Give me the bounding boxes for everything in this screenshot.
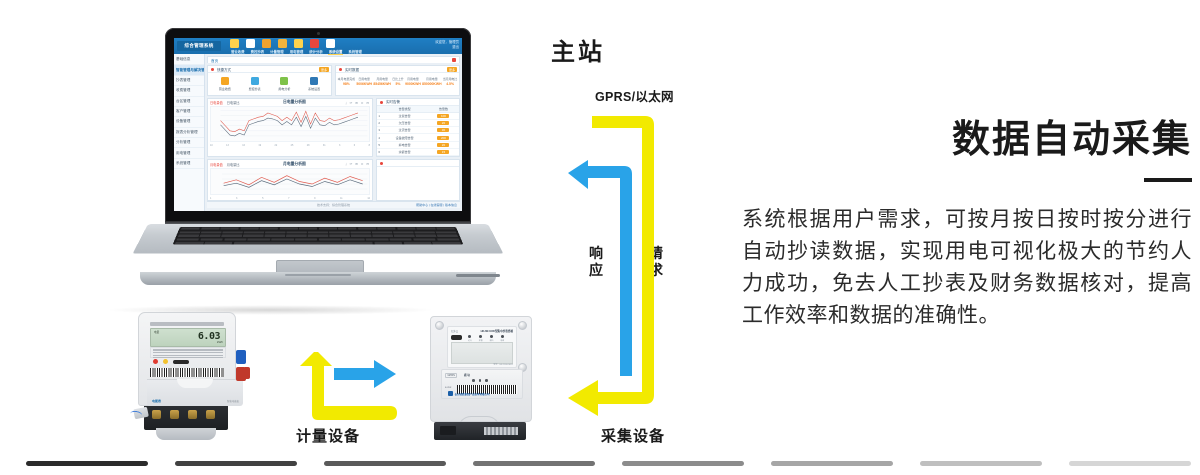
row0-type: 过载告警	[381, 112, 428, 119]
row1-count-cell: 20	[428, 120, 459, 127]
daily-chart-xaxis: 10 13 16 19 22 25 28 31 3 6	[208, 144, 372, 147]
sidebar-item-5[interactable]: 客户管理	[174, 107, 204, 117]
row5-count: 15	[437, 150, 449, 154]
table-row[interactable]: 3过流告警30	[377, 127, 459, 134]
daily-chart-card: 日电量值 日电量比 日电量分析图 ⤓ ⟳ ⊞ ⊙ ⊟	[207, 98, 373, 158]
row0-count: 100	[437, 114, 449, 118]
row3-count-cell: 200	[428, 134, 459, 141]
page-title: 数据自动采集	[742, 120, 1192, 162]
stat-label-2: 月用电量	[376, 77, 388, 81]
footer-bar-6	[920, 461, 1042, 466]
meter1-spec-label	[150, 347, 226, 358]
monthly-chart-svg	[211, 169, 369, 194]
laptop-lid: 综合管理系统 营业收费 费控抄表 计量管理 用电管理	[165, 28, 471, 223]
stat-value-3: 5%	[392, 82, 404, 88]
meter1-brand-sub: 智能电能表	[227, 399, 239, 403]
laptop-illustration: 综合管理系统 营业收费 费控抄表 计量管理 用电管理	[118, 28, 518, 308]
quick-icon-3	[310, 77, 318, 85]
bullet-icon	[211, 68, 214, 71]
dashboard-chart-row-1: 日电量值 日电量比 日电量分析图 ⤓ ⟳ ⊞ ⊙ ⊟	[207, 98, 460, 158]
footer-bar-1	[175, 461, 297, 466]
collector-barcode-label: K-2XX	[445, 387, 451, 389]
quick-label-0: 营业收费	[219, 87, 231, 91]
secondary-panel-header	[377, 160, 459, 167]
collector-lcd-display	[451, 342, 513, 364]
sidebar-item-9[interactable]: 用电管理	[174, 148, 204, 158]
terminal-screw	[188, 410, 197, 419]
dashboard-top-cards: 快捷方式 更多 营业收费 费控抄表 用电分析 系统设置	[207, 65, 460, 96]
collector-housing: 红外口 HKJW-1000型集中抄表终端 运行 报警 通讯 电源 型号：HK-1…	[430, 316, 532, 422]
bullet-icon	[380, 162, 383, 165]
mxtick-0: 1	[210, 197, 211, 200]
row3-type: 设备故障告警	[381, 134, 428, 141]
quick-label-1: 费控抄表	[249, 87, 261, 91]
mxtick-4: 5	[262, 197, 263, 200]
nav-item-6[interactable]: 系统管理	[347, 49, 363, 55]
collector-model: HKJW-1000型集中抄表终端	[481, 329, 513, 333]
stat-value-1: 5006KWH	[356, 82, 372, 88]
footer-right-links[interactable]: 帮助中心 | 在线客服 | 版本信息	[416, 202, 457, 208]
sidebar-item-1[interactable]: 智能管理与解决管理	[174, 65, 204, 75]
xtick-15: 25	[291, 144, 294, 147]
row5-type: 余额告警	[381, 148, 428, 155]
row4-type: 掉电告警	[381, 141, 428, 148]
icon-module-7[interactable]	[326, 39, 335, 48]
quick-access-card-header: 快捷方式 更多	[208, 66, 331, 73]
th-2: 告警数	[428, 106, 459, 113]
quick-item-3[interactable]: 系统设置	[308, 77, 320, 91]
marketing-text-block: 数据自动采集 系统根据用户需求，可按月按日按时按分进行自动抄读数据，实现用电可视…	[742, 120, 1192, 352]
nav-item-0[interactable]: 营业收费	[230, 49, 246, 55]
realtime-stats-values: 本月电量完成98% 日用电量5006KWH 月用电量85456KWH 日比上升5…	[336, 73, 459, 92]
meter1-unit: kWh	[217, 340, 223, 344]
mxtick-11: 12	[367, 197, 370, 200]
monthly-chart-title: 月电量分析图	[244, 162, 346, 167]
meter1-model-label	[150, 322, 224, 326]
meter1-barcode	[150, 368, 224, 377]
gprs-badge: GPRS	[445, 373, 457, 378]
monthly-chart-xaxis: 1 3 5 7 9 11 12	[208, 197, 372, 200]
mxtick-6: 7	[288, 197, 289, 200]
sidebar-item-0[interactable]: 基础信息	[174, 55, 204, 65]
row4-count: 20	[437, 143, 449, 147]
collector-ir-label: 红外口	[451, 329, 458, 333]
housing-screw	[518, 321, 527, 330]
stat-label-5: 月用电量	[426, 77, 438, 81]
terminal-screw	[170, 410, 179, 419]
footer-left-text: 技术支持：综合管理系统	[317, 203, 350, 207]
brand-logo-icon	[448, 391, 453, 396]
terminal-lug	[440, 426, 456, 435]
meter1-lcd-display: 电量 6.03 kWh	[150, 328, 226, 347]
dashboard-footer: 技术支持：综合管理系统 帮助中心 | 在线客服 | 版本信息	[207, 201, 460, 208]
icon-module-5[interactable]	[294, 39, 303, 48]
led-power-icon	[501, 335, 504, 338]
row2-count: 30	[437, 128, 449, 132]
row5-count-cell: 15	[428, 148, 459, 155]
row4-count-cell: 20	[428, 141, 459, 148]
stat-value-6: 4.5%	[443, 82, 457, 88]
stat-3: 日比上升5%	[392, 77, 404, 88]
daily-chart-title: 日电量分析图	[244, 100, 346, 105]
led-comm-icon	[490, 335, 493, 338]
response-flow-arrow	[568, 160, 654, 382]
terminal-screw	[206, 410, 215, 419]
terminal-screw	[152, 410, 161, 419]
quick-access-title: 快捷方式	[217, 68, 231, 72]
alarm-table-card: 实时告警 告警类型 告警数 1过载告警100 2欠压告警20	[376, 98, 460, 158]
stat-value-2: 85456KWH	[373, 82, 391, 88]
dashboard-main: 首页 快捷方式 更多 营业收费	[205, 54, 462, 211]
footer-bar-5	[771, 461, 893, 466]
dashboard-header: 综合管理系统 营业收费 费控抄表 计量管理 用电管理	[174, 38, 462, 54]
daily-chart-toolbar[interactable]: ⤓ ⟳ ⊞ ⊙ ⊟	[345, 101, 370, 105]
meter1-indicators	[153, 359, 189, 364]
body-copy: 系统根据用户需求，可按月按日按时按分进行自动抄读数据，实现用电可视化极大的节约人…	[742, 204, 1192, 332]
led-yellow-icon	[163, 359, 168, 364]
stat-1: 日用电量5006KWH	[356, 77, 372, 88]
led-alarm-icon	[479, 335, 482, 338]
quick-access-card: 快捷方式 更多 营业收费 费控抄表 用电分析 系统设置	[207, 65, 332, 96]
monthly-chart-header: 月电量值 月电量比 月电量分析图 ⤓ ⟳ ⊞ ⊙ ⊟	[208, 160, 372, 167]
module-led-icon	[485, 379, 488, 382]
collector-fn-label: 型号：HK-1000-G001	[494, 363, 513, 366]
footer-bar-7	[1069, 461, 1191, 466]
daily-chart-legend-1: 日电量比	[227, 100, 240, 105]
row2-type: 过流告警	[381, 127, 428, 134]
meter1-terminal-block	[144, 404, 228, 430]
quick-icon-2	[280, 77, 288, 85]
collector-terminal-block	[434, 422, 526, 440]
icon-module-4[interactable]	[278, 39, 287, 48]
xtick-21: 31	[323, 144, 326, 147]
footer-bar-4	[622, 461, 744, 466]
collector-model-row: 红外口 HKJW-1000型集中抄表终端	[451, 329, 513, 333]
meter1-base-cover	[156, 428, 216, 440]
collection-device-label: 采集设备	[601, 425, 665, 446]
nav-item-3[interactable]: 用电管理	[289, 49, 305, 55]
module-label: 模 块	[464, 373, 470, 377]
xtick-3: 13	[226, 144, 229, 147]
nav-item-1[interactable]: 费控抄表	[250, 49, 266, 55]
close-icon[interactable]	[452, 58, 456, 62]
table-row[interactable]: 5掉电告警20	[377, 141, 459, 148]
alarm-table-header: 实时告警	[377, 99, 459, 106]
collector-brand: 长沙威胜集团产业技术有限公司	[448, 391, 490, 396]
secondary-panel-card	[376, 159, 460, 201]
quick-icon-0	[221, 77, 229, 85]
xtick-29: 8	[369, 144, 370, 147]
meter-collector-flow-arrows	[298, 352, 400, 424]
quick-icon-1	[251, 77, 259, 85]
dashboard-body: 基础信息 智能管理与解决管理 抄表管理 收费管理 台区管理 客户管理 设备管理 …	[174, 54, 462, 211]
xtick-0: 10	[210, 144, 213, 147]
table-row[interactable]: 4设备故障告警200	[377, 134, 459, 141]
xtick-6: 16	[242, 144, 245, 147]
dashboard-user-info: 欢迎您，管理员 退出	[435, 40, 459, 50]
sidebar-item-7[interactable]: 报表分析管理	[174, 128, 204, 138]
metering-device-label: 计量设备	[296, 425, 360, 446]
quick-label-2: 用电分析	[278, 87, 290, 91]
xtick-27: 6	[354, 144, 355, 147]
led-run-icon	[468, 335, 471, 338]
meter1-brand: 电能表	[152, 399, 161, 403]
stat-value-5: 850000KWH	[422, 82, 441, 88]
footer-gradient-bars	[26, 461, 1200, 466]
stat-value-4: 9000KWH	[405, 82, 421, 88]
realtime-stats-card: 实时数据 更多 本月电量完成98% 日用电量5006KWH 月用电量85456K…	[335, 65, 460, 96]
sidebar-item-2[interactable]: 抄表管理	[174, 76, 204, 86]
icon-module-1[interactable]	[230, 39, 239, 48]
title-rule-divider	[1144, 178, 1192, 182]
stat-label-6: 当月用电比	[443, 77, 457, 81]
sidebar-item-8[interactable]: 分析管理	[174, 138, 204, 148]
mxtick-8: 9	[314, 197, 315, 200]
main-station-label: 主站	[551, 32, 605, 67]
mxtick-2: 3	[236, 197, 237, 200]
sidebar-item-10[interactable]: 系统管理	[174, 159, 204, 169]
poster-canvas: 数据自动采集 系统根据用户需求，可按月按日按时按分进行自动抄读数据，实现用电可视…	[0, 0, 1200, 475]
row1-count: 20	[437, 121, 449, 125]
monthly-chart-legend-1: 月电量比	[227, 162, 240, 167]
stat-5: 月用电量850000KWH	[422, 77, 441, 88]
stat-2: 月用电量85456KWH	[373, 77, 391, 88]
stat-value-0: 98%	[338, 82, 355, 88]
quick-item-1[interactable]: 费控抄表	[249, 77, 261, 91]
row0-count-cell: 100	[428, 112, 459, 119]
module-led-icon	[479, 379, 482, 382]
collector-ir-window	[451, 335, 462, 340]
meter1-lower-cover: 电能表 智能电能表	[147, 379, 243, 406]
led-red-icon	[153, 359, 158, 364]
sidebar-item-4[interactable]: 台区管理	[174, 97, 204, 107]
icon-module-6[interactable]	[310, 39, 319, 48]
sidebar-item-3[interactable]: 收费管理	[174, 86, 204, 96]
keyboard-row	[173, 241, 464, 244]
bullet-icon	[339, 68, 342, 71]
footer-bar-2	[324, 461, 446, 466]
stat-label-3: 日比上升	[392, 77, 404, 81]
icon-module-2[interactable]	[246, 39, 255, 48]
quick-item-0[interactable]: 营业收费	[219, 77, 231, 91]
laptop-base-front	[140, 272, 496, 285]
table-row[interactable]: 1过载告警100	[377, 112, 459, 119]
row3-count: 200	[437, 136, 449, 140]
meter1-side-seal	[245, 367, 250, 379]
table-header-row: 告警类型 告警数	[377, 106, 459, 113]
stat-label-0: 本月电量完成	[338, 77, 355, 81]
stat-0: 本月电量完成98%	[338, 77, 355, 88]
sidebar-item-6[interactable]: 设备管理	[174, 117, 204, 127]
laptop-screen: 综合管理系统 营业收费 费控抄表 计量管理 用电管理	[174, 38, 462, 211]
table-row[interactable]: 2欠压告警20	[377, 120, 459, 127]
xtick-9: 19	[258, 144, 261, 147]
alarm-table: 告警类型 告警数 1过载告警100 2欠压告警20 3过流告警30 4设备故障告…	[377, 106, 459, 157]
xtick-24: 3	[339, 144, 340, 147]
daily-chart-legend-0: 日电量值	[210, 100, 223, 105]
tab-home[interactable]: 首页	[211, 59, 218, 63]
footer-bar-0	[26, 461, 148, 466]
daily-chart-header: 日电量值 日电量比 日电量分析图 ⤓ ⟳ ⊞ ⊙ ⊟	[208, 99, 372, 106]
monthly-chart-plot	[210, 168, 370, 195]
laptop-keyboard	[173, 227, 464, 245]
quick-access-items: 营业收费 费控抄表 用电分析 系统设置	[208, 73, 331, 95]
terminal-strip	[484, 427, 518, 435]
realtime-stats-card-header: 实时数据 更多	[336, 66, 459, 73]
daily-chart-svg	[211, 107, 369, 141]
quick-label-3: 系统设置	[308, 87, 320, 91]
dashboard-tab-bar: 首页	[207, 56, 460, 63]
xtick-12: 22	[275, 144, 278, 147]
stat-6: 当月用电比4.5%	[443, 77, 457, 88]
row2-count-cell: 30	[428, 127, 459, 134]
icon-module-3[interactable]	[262, 39, 271, 48]
monthly-chart-card: 月电量值 月电量比 月电量分析图 ⤓ ⟳ ⊞ ⊙ ⊟	[207, 159, 373, 201]
meter1-housing: 电量 6.03 kWh 电能表 智能电能表	[138, 312, 236, 406]
realtime-stats-more-button[interactable]: 更多	[447, 67, 457, 72]
dashboard-chart-row-2: 月电量值 月电量比 月电量分析图 ⤓ ⟳ ⊞ ⊙ ⊟	[207, 159, 460, 201]
laptop-base	[118, 224, 518, 294]
quick-access-more-button[interactable]: 更多	[319, 67, 329, 72]
warning-icon	[380, 101, 383, 104]
nav-item-2[interactable]: 计量管理	[269, 49, 285, 55]
mxtick-10: 11	[340, 197, 342, 200]
realtime-stats-title: 实时数据	[345, 68, 359, 72]
dashboard-nav-menu: 营业收费 费控抄表 计量管理 用电管理 统计分析 系统设置 系统管理	[230, 49, 363, 55]
table-row[interactable]: 6余额告警15	[377, 148, 459, 155]
footer-bar-3	[473, 461, 595, 466]
meter1-blue-button[interactable]	[236, 350, 246, 364]
stat-label-1: 日用电量	[358, 77, 370, 81]
dashboard-module-icons	[230, 39, 335, 48]
laptop-disc-slot	[456, 274, 500, 277]
dashboard-logo: 综合管理系统	[177, 41, 221, 51]
single-phase-meter: 电量 6.03 kWh 电能表 智能电能表	[130, 312, 248, 440]
quick-item-2[interactable]: 用电分析	[278, 77, 290, 91]
dashboard-sidebar: 基础信息 智能管理与解决管理 抄表管理 收费管理 台区管理 客户管理 设备管理 …	[174, 54, 205, 211]
collector-comm-module: GPRS 模 块 K-2XX 长沙威胜集团产业技术有限公司	[441, 369, 523, 399]
nav-item-5[interactable]: 系统设置	[328, 49, 344, 55]
nav-item-4[interactable]: 统计分析	[308, 49, 324, 55]
meter1-ir-port	[173, 360, 189, 364]
housing-screw	[435, 321, 444, 330]
stat-4: 月用电量9000KWH	[405, 77, 421, 88]
meter1-display-tag: 电量	[154, 330, 159, 334]
row1-type: 欠压告警	[381, 120, 428, 127]
module-leds	[472, 379, 488, 382]
collection-terminal: 红外口 HKJW-1000型集中抄表终端 运行 报警 通讯 电源 型号：HK-1…	[424, 312, 536, 440]
module-led-icon	[472, 379, 475, 382]
monthly-chart-legend-0: 月电量值	[210, 162, 223, 167]
th-1: 告警类型	[381, 106, 428, 113]
stat-label-4: 月用电量	[407, 77, 419, 81]
user-logout[interactable]: 退出	[435, 45, 459, 50]
alarm-table-title: 实时告警	[386, 100, 400, 104]
daily-chart-plot	[210, 106, 370, 142]
monthly-chart-toolbar[interactable]: ⤓ ⟳ ⊞ ⊙ ⊟	[345, 162, 370, 166]
collector-front-panel: 红外口 HKJW-1000型集中抄表终端 运行 报警 通讯 电源 型号：HK-1…	[447, 326, 517, 368]
xtick-18: 28	[307, 144, 310, 147]
